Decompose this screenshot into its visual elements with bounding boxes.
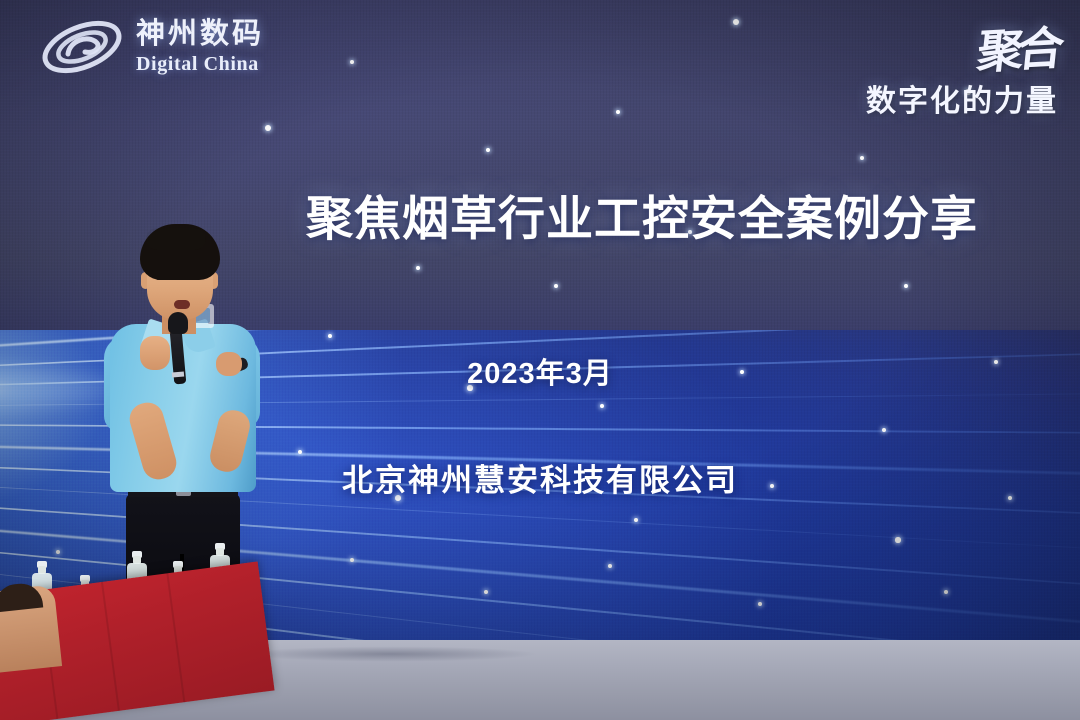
presenter-mouth (174, 300, 190, 309)
cloth-fold (101, 582, 120, 711)
event-logo-mark: 聚合 (974, 12, 1062, 82)
slide-title: 聚焦烟草行业工控安全案例分享 (306, 180, 1026, 249)
microphone-ring (172, 371, 184, 377)
conference-photo: 神州数码 Digital China 聚合 数字化的力量 聚焦烟草行业工控安全案… (0, 0, 1080, 720)
event-logo-tagline: 数字化的力量 (866, 76, 1058, 120)
event-logo: 聚合 数字化的力量 (866, 14, 1058, 120)
microphone-head-icon (168, 312, 188, 334)
digital-china-logo: 神州数码 Digital China (38, 16, 264, 78)
brand-name-en: Digital China (136, 54, 264, 74)
brand-name-cn: 神州数码 (136, 20, 264, 49)
presenter-hair (140, 224, 220, 280)
digital-china-swirl-icon (38, 16, 126, 78)
cloth-fold (166, 573, 185, 702)
presenter-right-hand (216, 352, 242, 376)
presenter-left-hand (140, 336, 170, 370)
